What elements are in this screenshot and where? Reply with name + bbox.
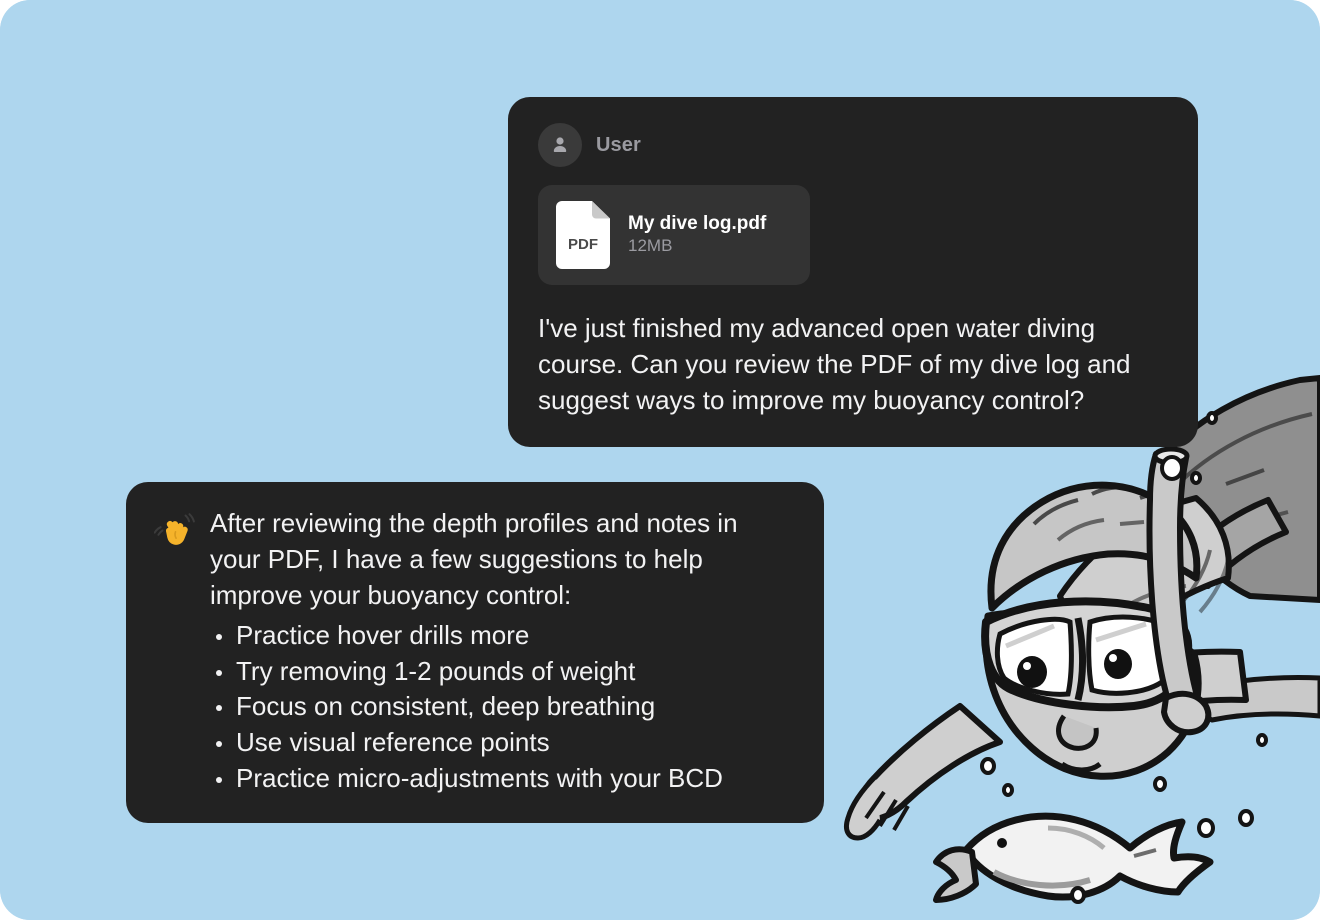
- attachment-file-size: 12MB: [628, 236, 672, 255]
- message-author-name: User: [596, 134, 641, 157]
- attachment-meta: My dive log.pdf 12MB: [628, 212, 790, 259]
- list-item: Try removing 1-2 pounds of weight: [210, 654, 794, 690]
- list-item: Use visual reference points: [210, 725, 794, 761]
- attachment-card[interactable]: PDF My dive log.pdf 12MB: [538, 185, 810, 285]
- user-message-text: I've just finished my advanced open wate…: [538, 311, 1168, 419]
- fish-figure: [936, 816, 1210, 900]
- snorkeler-figure: [846, 378, 1320, 838]
- list-item: Practice micro-adjustments with your BCD: [210, 761, 794, 797]
- waving-hand-icon: [154, 510, 196, 552]
- pdf-icon-label: PDF: [568, 236, 598, 253]
- attachment-file-name: My dive log.pdf: [628, 213, 766, 234]
- air-bubbles: [982, 384, 1266, 902]
- assistant-intro-text: After reviewing the depth profiles and n…: [210, 506, 794, 614]
- list-item: Focus on consistent, deep breathing: [210, 689, 794, 725]
- user-message-header: User: [538, 123, 1168, 167]
- assistant-intro-row: After reviewing the depth profiles and n…: [154, 506, 794, 614]
- pdf-file-icon: PDF: [556, 201, 610, 269]
- suggestion-list: Practice hover drills more Try removing …: [154, 618, 794, 797]
- person-icon: [538, 123, 582, 167]
- assistant-message-bubble: After reviewing the depth profiles and n…: [126, 482, 824, 823]
- list-item: Practice hover drills more: [210, 618, 794, 654]
- user-message-bubble: User PDF My dive log.pdf 12MB I've just …: [508, 97, 1198, 447]
- page-root: User PDF My dive log.pdf 12MB I've just …: [0, 0, 1320, 920]
